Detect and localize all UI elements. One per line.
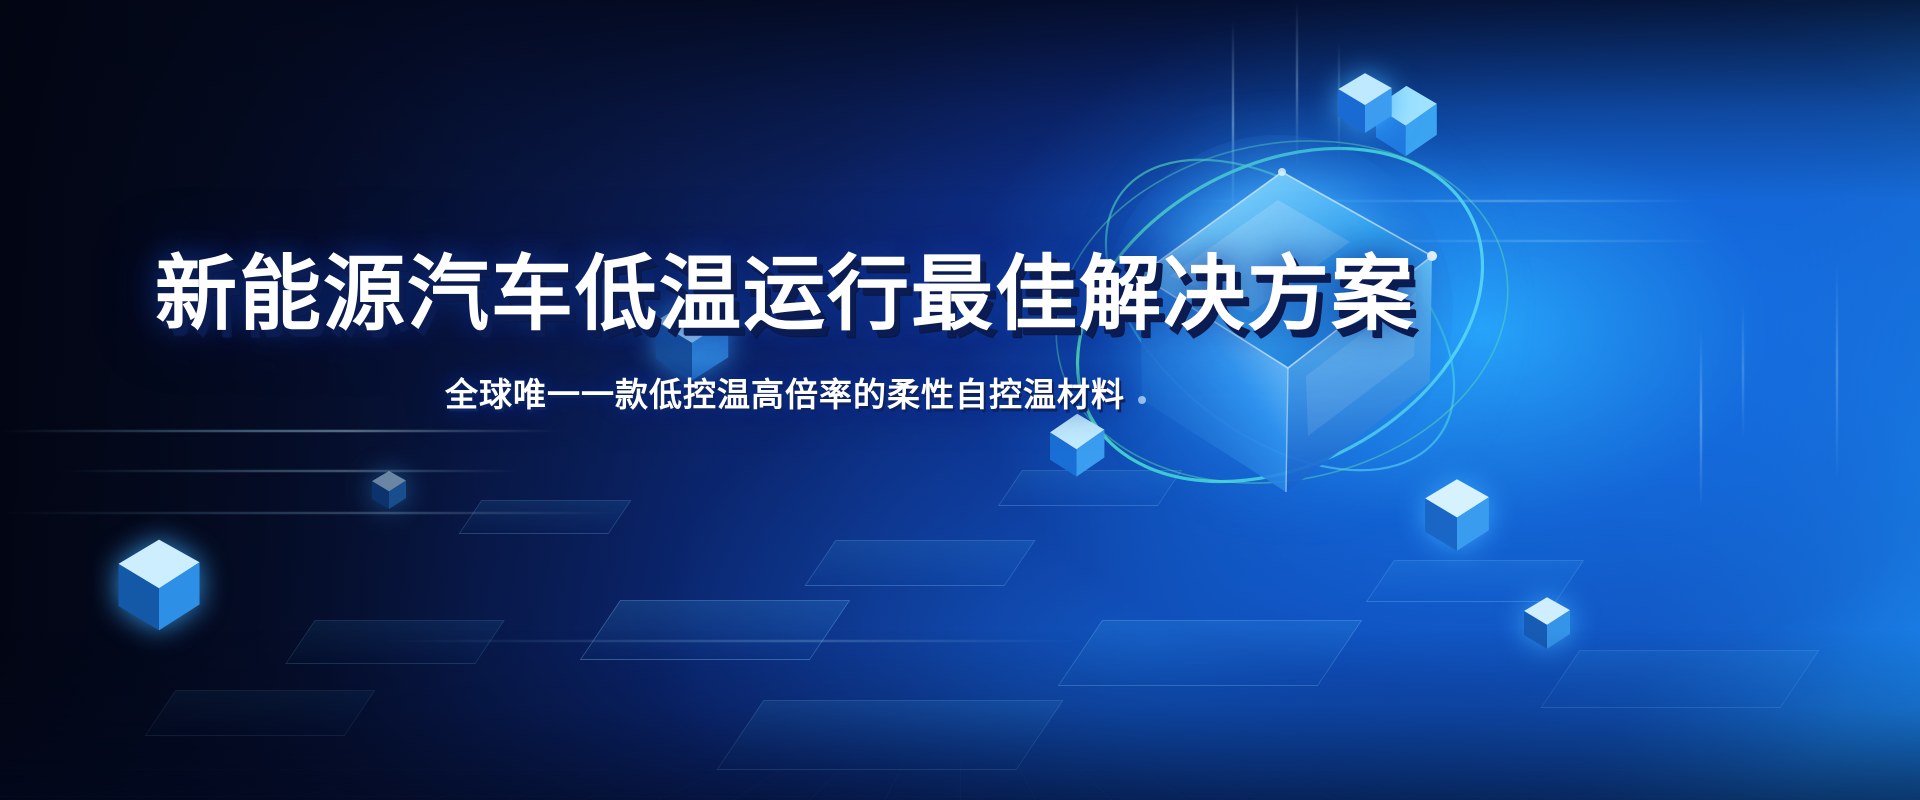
banner-text: 新能源汽车低温运行最佳解决方案 全球唯一一款低控温高倍率的柔性自控温材料	[0, 0, 1920, 800]
page-subtitle: 全球唯一一款低控温高倍率的柔性自控温材料	[0, 368, 1570, 416]
page-title: 新能源汽车低温运行最佳解决方案	[0, 252, 1570, 338]
hero-banner: 新能源汽车低温运行最佳解决方案 全球唯一一款低控温高倍率的柔性自控温材料	[0, 0, 1920, 800]
